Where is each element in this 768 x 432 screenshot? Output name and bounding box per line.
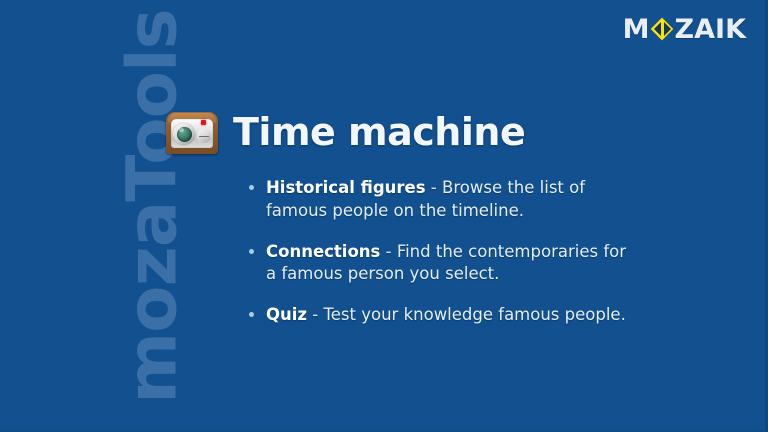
bullet-icon [249, 312, 254, 317]
list-item: Connections - Find the contemporaries fo… [248, 241, 638, 287]
list-item: Quiz - Test your knowledge famous people… [248, 304, 638, 327]
mozaik-logo: M ZAIK [623, 14, 746, 44]
bullet-icon [249, 185, 254, 190]
feature-term: Quiz [266, 305, 307, 324]
feature-separator: - [380, 242, 396, 261]
feature-separator: - [426, 178, 442, 197]
bullet-icon [249, 249, 254, 254]
page-title: Time machine [233, 113, 525, 151]
feature-term: Connections [266, 242, 380, 261]
logo-text-suffix: ZAIK [675, 16, 746, 43]
content-block: Time machine Historical figures - Browse… [164, 103, 634, 327]
title-row: Time machine [164, 103, 634, 161]
slide-canvas: mozaTools M ZAIK Time mac [0, 0, 768, 432]
feature-description: Test your knowledge famous people. [324, 305, 626, 324]
logo-text-prefix: M [623, 16, 650, 43]
feature-separator: - [307, 305, 323, 324]
time-machine-radio-icon [164, 107, 220, 157]
diamond-icon [651, 18, 674, 41]
list-item: Historical figures - Browse the list of … [248, 177, 638, 223]
feature-list: Historical figures - Browse the list of … [248, 177, 638, 327]
feature-term: Historical figures [266, 178, 426, 197]
